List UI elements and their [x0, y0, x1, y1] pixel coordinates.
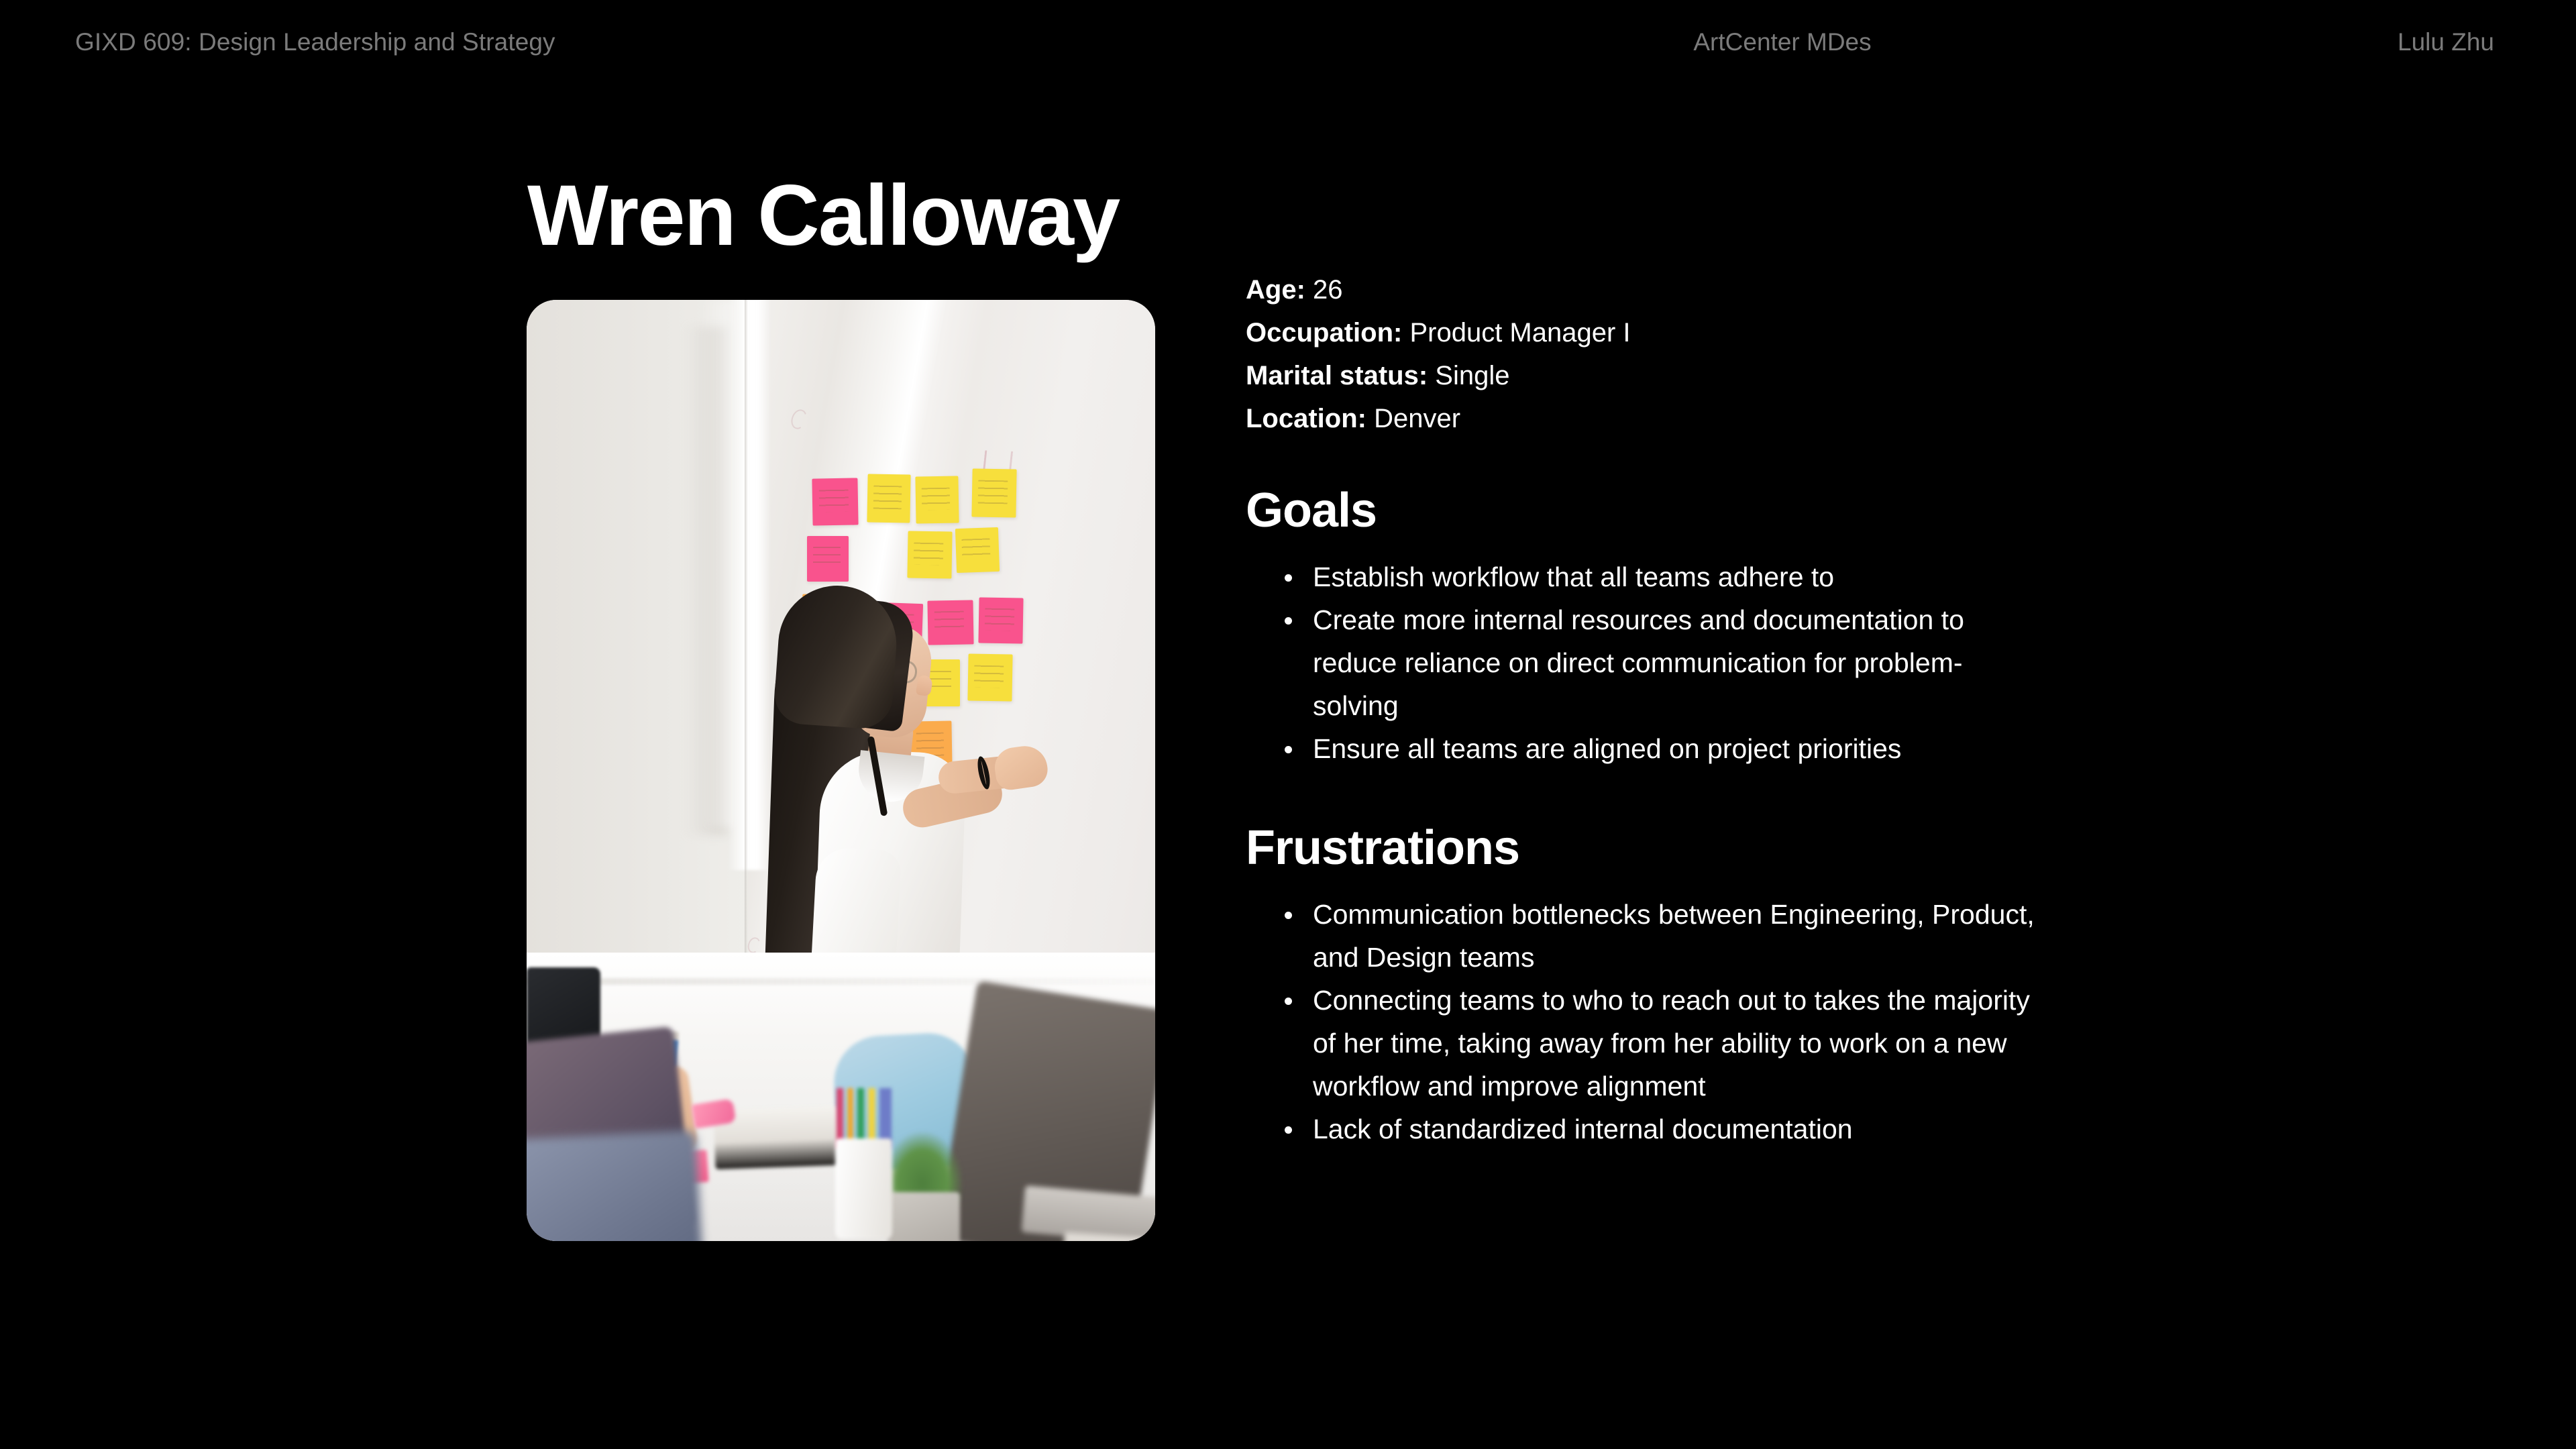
demographic-label: Occupation: — [1246, 318, 1402, 347]
list-item: Communication bottlenecks between Engine… — [1313, 893, 2037, 979]
top-bar: GIXD 609: Design Leadership and Strategy… — [0, 0, 2576, 84]
goals-list: Establish workflow that all teams adhere… — [1246, 555, 2104, 770]
course-title: GIXD 609: Design Leadership and Strategy — [75, 28, 555, 56]
demographic-row: Marital status: Single — [1246, 354, 2104, 397]
sticky-note — [971, 468, 1016, 517]
frustrations-heading: Frustrations — [1246, 824, 2104, 872]
sticky-note — [867, 474, 910, 523]
demographic-label: Marital status: — [1246, 361, 1428, 390]
goals-heading: Goals — [1246, 486, 2104, 535]
frustrations-list: Communication bottlenecks between Engine… — [1246, 893, 2104, 1150]
demographic-row: Age: 26 — [1246, 268, 2104, 311]
photo-scene — [527, 300, 1155, 1241]
demographic-row: Location: Denver — [1246, 397, 2104, 440]
list-item: Establish workflow that all teams adhere… — [1313, 555, 1984, 598]
demographic-value: 26 — [1313, 275, 1343, 305]
list-item: Create more internal resources and docum… — [1313, 598, 1984, 727]
demographic-row: Occupation: Product Manager I — [1246, 311, 2104, 354]
demographic-value: Denver — [1374, 404, 1460, 433]
demographic-value: Single — [1435, 361, 1509, 390]
demographic-value: Product Manager I — [1409, 318, 1630, 347]
plant-pot — [888, 1192, 960, 1241]
demographic-label: Age: — [1246, 275, 1305, 305]
program-label: ArtCenter MDes — [1693, 28, 1871, 56]
list-item: Lack of standardized internal documentat… — [1313, 1108, 2037, 1150]
sticky-note — [812, 478, 858, 525]
nose — [916, 674, 933, 696]
desk-edge — [527, 978, 1155, 985]
persona-details: Age: 26 Occupation: Product Manager I Ma… — [1246, 268, 2104, 1150]
author-name: Lulu Zhu — [2398, 28, 2494, 56]
demographics-block: Age: 26 Occupation: Product Manager I Ma… — [1246, 268, 2104, 440]
list-item: Connecting teams to who to reach out to … — [1313, 979, 2037, 1108]
demographic-label: Location: — [1246, 404, 1366, 433]
list-item: Ensure all teams are aligned on project … — [1313, 727, 1984, 770]
persona-photo — [527, 300, 1155, 1241]
persona-name: Wren Calloway — [527, 171, 1119, 261]
sticky-note — [915, 476, 959, 523]
pen-cup — [835, 1138, 892, 1239]
foreground-tablet — [527, 1130, 706, 1241]
